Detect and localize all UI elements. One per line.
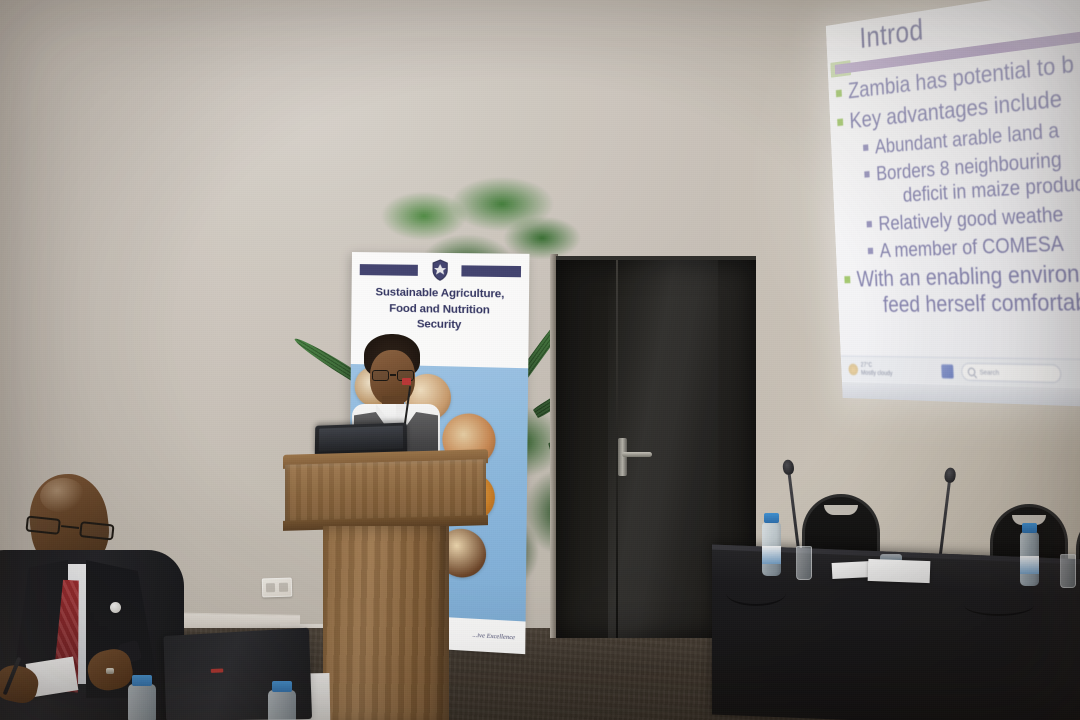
weather-temperature: 27°C — [861, 362, 873, 368]
water-bottle[interactable] — [1020, 532, 1039, 586]
green-square-bullet-icon — [844, 276, 850, 283]
conference-room-photo: Introd Zambia has potential to b Key adv… — [0, 0, 1080, 720]
bottle-label — [762, 546, 781, 564]
table-paper[interactable] — [832, 561, 873, 579]
bottle-cap-icon — [1022, 523, 1037, 533]
presentation-slide: Introd Zambia has potential to b Key adv… — [826, 0, 1080, 408]
lapel-pin-icon — [110, 602, 121, 613]
purple-square-bullet-icon — [864, 171, 869, 178]
taskbar-spacer-right — [1070, 374, 1080, 375]
gooseneck-microphone[interactable] — [938, 478, 951, 562]
green-square-bullet-icon — [836, 89, 842, 97]
door-handle-icon[interactable] — [622, 452, 652, 457]
banner-bar-right — [461, 265, 521, 277]
search-icon — [968, 368, 976, 377]
drinking-glass[interactable] — [796, 546, 812, 580]
slide-bullet-list: Zambia has potential to b Key advantages… — [828, 45, 1080, 321]
bottle-cap-icon — [764, 513, 779, 523]
banner-header-bars — [360, 262, 521, 278]
finger-ring-icon — [106, 668, 114, 674]
slide-bullet-continuation: feed herself comfortably — [857, 289, 1080, 320]
taskbar-search-box[interactable]: Search — [961, 363, 1062, 383]
microphone-cable — [964, 594, 1034, 616]
panel-table-area — [720, 470, 1080, 720]
banner-bar-left — [360, 264, 418, 276]
purple-square-bullet-icon — [867, 221, 872, 228]
slide-bullet: With an enabling environ feed herself co… — [837, 257, 1080, 321]
bottle-label — [1020, 556, 1039, 574]
slide-bullet-text-group: With an enabling environ feed herself co… — [856, 259, 1080, 319]
bottle-cap-icon — [132, 675, 152, 686]
slide-bullet-text: A member of COMESA — [879, 231, 1064, 263]
bottle-cap-icon — [272, 681, 292, 692]
weather-description: Mostly cloudy — [861, 370, 893, 377]
banner-title: Sustainable Agriculture, Food and Nutrit… — [351, 285, 529, 336]
water-bottle[interactable] — [128, 684, 156, 720]
table-paper[interactable] — [868, 559, 931, 583]
purple-square-bullet-icon — [863, 145, 868, 152]
taskbar-weather-text: 27°C Mostly cloudy — [861, 362, 893, 377]
microphone-head-icon — [944, 467, 957, 483]
water-bottle[interactable] — [762, 522, 781, 576]
door-lock-icon — [618, 438, 627, 476]
podium-laptop[interactable] — [315, 423, 407, 456]
drinking-glass[interactable] — [1060, 554, 1076, 588]
sun-icon — [848, 364, 858, 376]
taskbar-weather-widget[interactable]: 27°C Mostly cloudy — [848, 362, 892, 377]
start-icon[interactable] — [941, 364, 954, 378]
banner-title-line: Sustainable Agriculture, — [351, 285, 529, 304]
purple-square-bullet-icon — [868, 248, 873, 254]
search-placeholder: Search — [979, 368, 999, 377]
banner-title-line: Security — [351, 316, 529, 335]
water-bottle[interactable] — [268, 690, 296, 720]
projection-screen[interactable]: Introd Zambia has potential to b Key adv… — [826, 0, 1080, 408]
slide-bullet-text: With an enabling environ — [856, 260, 1080, 292]
podium-column — [323, 526, 449, 720]
microphone-cable — [726, 580, 786, 606]
taskbar-spacer — [900, 370, 934, 371]
lapel-microphone-icon — [402, 378, 411, 385]
national-crest-logo-icon — [429, 259, 450, 281]
green-square-bullet-icon — [837, 118, 843, 126]
